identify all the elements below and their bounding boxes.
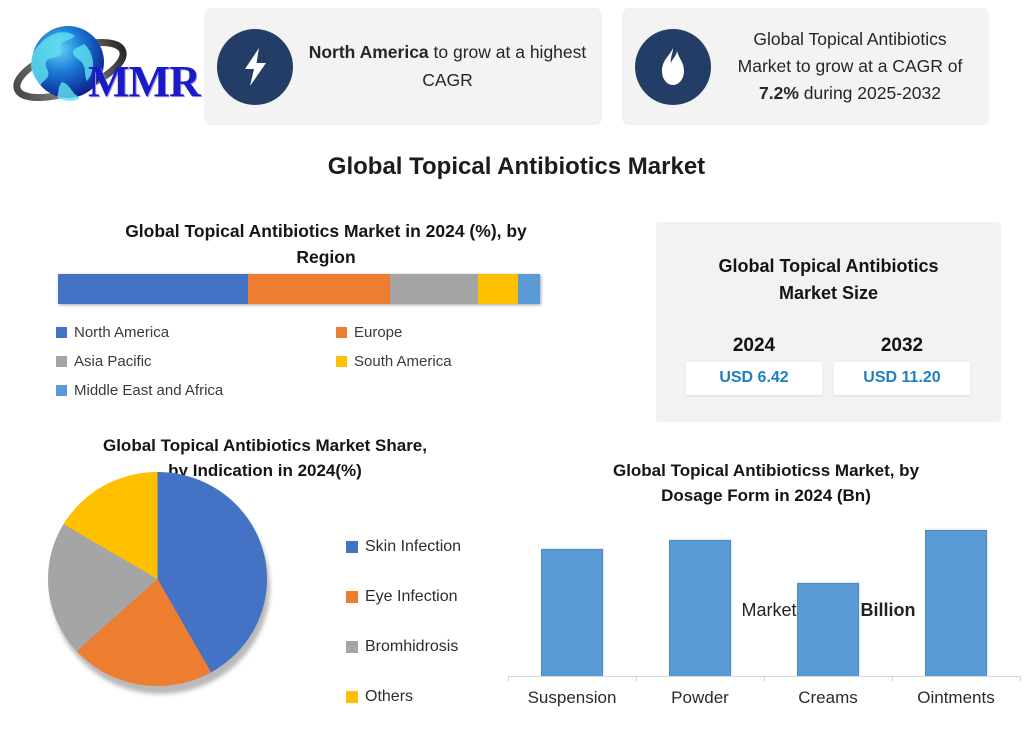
dosage-chart-title-line1: Global Topical Antibioticss Market, by [516,458,1016,483]
lightning-bolt-icon [217,29,293,105]
logo-wordmark: MMR [88,56,200,107]
region-legend-swatch-icon [56,356,67,367]
region-chart-title: Global Topical Antibiotics Market in 202… [40,219,612,271]
region-segment [390,274,478,304]
dosage-axis-label: Powder [636,688,764,708]
region-chart-title-line2: Region [40,245,612,271]
page-title: Global Topical Antibiotics Market [0,153,1033,181]
card-cagr-value: 7.2% [759,83,799,103]
dosage-bar [669,540,731,677]
lightning-bolt-glyph [237,46,273,88]
pie-legend-item: Others [346,672,526,722]
dosage-axis-label: Suspension [508,688,636,708]
region-legend-item: Europe [336,318,616,347]
region-segment [248,274,390,304]
dosage-axis-tick [764,676,765,682]
region-legend-swatch-icon [336,327,347,338]
card-cagr-line1: Global Topical Antibiotics [723,26,977,53]
market-size-year-2032: 2032 [834,335,970,357]
dosage-chart-title-line2: Dosage Form in 2024 (Bn) [516,483,1016,508]
region-legend-item: Asia Pacific [56,347,336,376]
highlight-card-north-america: North America to grow at a highest CAGR [204,8,602,125]
region-legend-label: Asia Pacific [74,353,152,370]
region-legend-label: Middle East and Africa [74,382,223,399]
dosage-axis-labels: SuspensionPowderCreamsOintments [508,688,1020,708]
dosage-bar [925,530,987,677]
region-legend: North AmericaEuropeAsia PacificSouth Ame… [56,318,616,405]
dosage-axis-tick [1020,676,1021,682]
pie-legend-swatch-icon [346,691,358,703]
market-size-value-2024: USD 6.42 [686,362,822,395]
highlight-card-cagr: Global Topical Antibiotics Market to gro… [622,8,989,125]
market-size-column-2024: 2024 USD 6.42 [686,335,822,395]
pie-legend-label: Bromhidrosis [365,638,458,656]
dosage-bar [797,583,859,677]
indication-pie-chart [48,472,272,694]
flame-icon [635,29,711,105]
region-legend-label: Europe [354,324,402,341]
market-size-box: Global Topical Antibiotics Market Size 2… [656,222,1001,422]
highlight-card-cagr-text: Global Topical Antibiotics Market to gro… [711,26,989,107]
region-segment [518,274,540,304]
region-legend-item: South America [336,347,616,376]
pie-chart-title-line1: Global Topical Antibiotics Market Share, [30,433,500,458]
market-size-heading: Global Topical Antibiotics Market Size [656,253,1001,307]
region-legend-item: Middle East and Africa [56,376,616,405]
market-size-heading-line1: Global Topical Antibiotics [656,253,1001,280]
region-legend-label: North America [74,324,169,341]
market-size-year-2024: 2024 [686,335,822,357]
card-na-bold: North America [309,42,429,62]
flame-glyph [657,46,689,88]
dosage-axis-label: Ointments [892,688,1020,708]
pie-legend-swatch-icon [346,541,358,553]
market-size-heading-line2: Market Size [656,280,1001,307]
mmr-logo: MMR [10,18,195,113]
region-legend-swatch-icon [336,356,347,367]
region-segment [478,274,518,304]
pie-legend: Skin InfectionEye InfectionBromhidrosisO… [346,522,526,722]
region-stacked-bar [58,274,540,304]
card-cagr-period: during 2025-2032 [799,83,941,103]
region-legend-swatch-icon [56,327,67,338]
pie-legend-swatch-icon [346,591,358,603]
pie-legend-swatch-icon [346,641,358,653]
dosage-axis-tick [892,676,893,682]
dosage-bar [541,549,603,677]
dosage-bars [508,516,1020,677]
region-segment [58,274,248,304]
dosage-axis-tick [508,676,509,682]
region-legend-swatch-icon [56,385,67,396]
highlight-card-north-america-text: North America to grow at a highest CAGR [293,39,602,93]
pie-legend-label: Skin Infection [365,538,461,556]
dosage-axis-tick [636,676,637,682]
market-size-column-2032: 2032 USD 11.20 [834,335,970,395]
card-cagr-line3: 7.2% during 2025-2032 [723,80,977,107]
pie-legend-item: Bromhidrosis [346,622,526,672]
dosage-axis-label: Creams [764,688,892,708]
market-size-value-2032: USD 11.20 [834,362,970,395]
dosage-chart-title: Global Topical Antibioticss Market, by D… [516,458,1016,508]
region-legend-label: South America [354,353,452,370]
pie-legend-item: Eye Infection [346,572,526,622]
card-na-rest: to grow at a highest CAGR [422,42,586,89]
region-chart-title-line1: Global Topical Antibiotics Market in 202… [40,219,612,245]
card-cagr-line2: Market to grow at a CAGR of [723,53,977,80]
pie-legend-label: Others [365,688,413,706]
region-legend-item: North America [56,318,336,347]
pie-legend-label: Eye Infection [365,588,458,606]
pie-legend-item: Skin Infection [346,522,526,572]
pie-slices [48,472,267,686]
